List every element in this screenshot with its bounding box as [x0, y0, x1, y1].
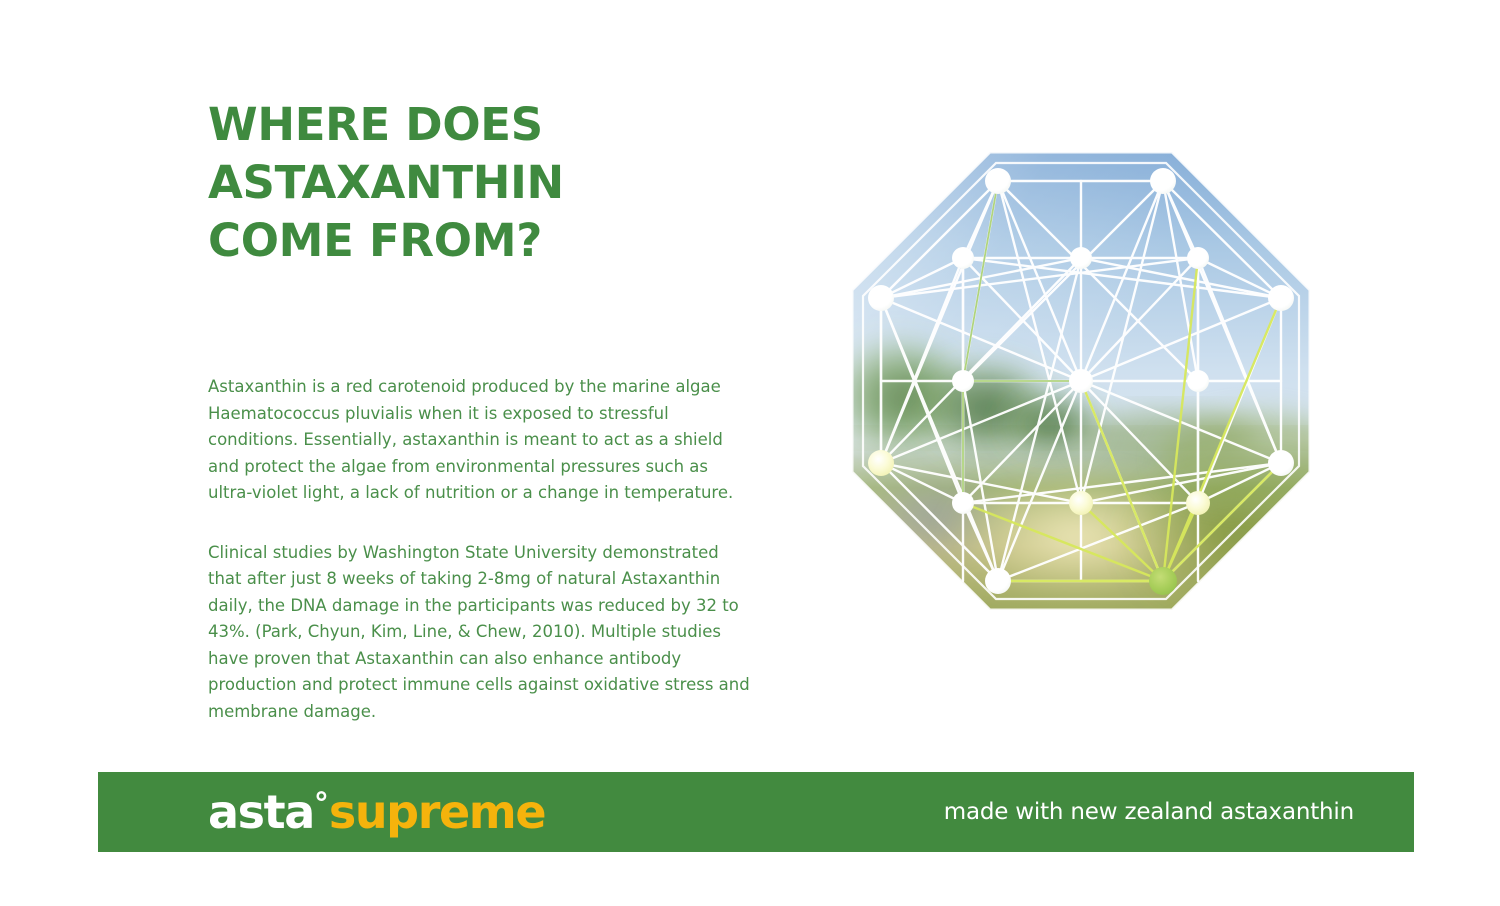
brand-logo[interactable]: asta°supreme [208, 789, 545, 835]
poster-page: WHERE DOES ASTAXANTHIN COME FROM? Astaxa… [0, 0, 1500, 906]
node-center [1069, 369, 1093, 393]
body-paragraph-origin: Astaxanthin is a red carotenoid produced… [208, 374, 753, 507]
brand-logo-supreme: supreme [329, 785, 545, 839]
node-outer-left-upper [868, 285, 894, 311]
octagon-network-svg [838, 138, 1324, 624]
node-inner-bottom [1069, 491, 1093, 515]
brand-logo-asta: asta [208, 785, 314, 839]
footer-tagline: made with new zealand astaxanthin [944, 799, 1354, 825]
octagon-network-graphic [838, 138, 1324, 624]
degree-symbol-icon: ° [314, 787, 329, 822]
node-outer-right-lower [1268, 450, 1294, 476]
body-paragraph-studies: Clinical studies by Washington State Uni… [208, 540, 753, 726]
footer-bar: asta°supreme made with new zealand astax… [98, 772, 1414, 852]
node-inner-bottom-left [952, 492, 974, 514]
node-outer-bottom-right-highlight [1149, 567, 1177, 595]
node-inner-right [1187, 370, 1209, 392]
node-outer-top-right [1150, 168, 1176, 194]
content-column: WHERE DOES ASTAXANTHIN COME FROM? Astaxa… [208, 96, 768, 725]
page-title: WHERE DOES ASTAXANTHIN COME FROM? [208, 96, 768, 270]
node-inner-left [952, 370, 974, 392]
node-outer-left-lower [868, 450, 894, 476]
node-outer-bottom-left [985, 568, 1011, 594]
node-outer-top-left [985, 168, 1011, 194]
node-inner-top-right [1187, 247, 1209, 269]
node-inner-top-left [952, 247, 974, 269]
node-inner-top [1070, 247, 1092, 269]
node-inner-bottom-right [1186, 491, 1210, 515]
node-outer-right-upper [1268, 285, 1294, 311]
